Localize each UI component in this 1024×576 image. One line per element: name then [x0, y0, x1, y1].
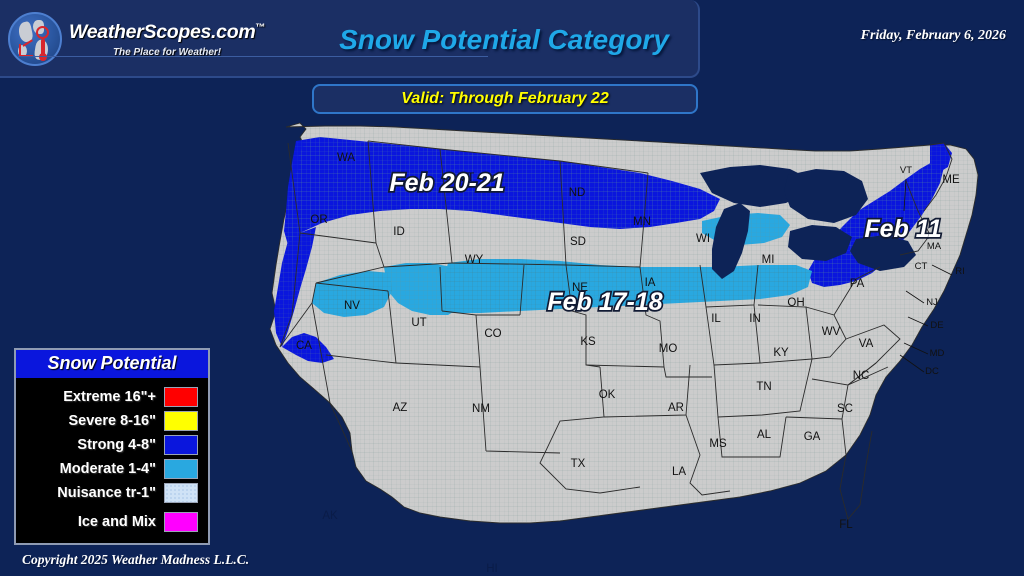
legend-item-label: Extreme 16"+ [63, 389, 156, 405]
map-annotation: Feb 17-18 [547, 288, 662, 316]
legend-item: Severe 8-16" [24, 409, 198, 432]
state-label-dc: DC [925, 366, 939, 377]
globe-icon [8, 12, 62, 66]
legend-item-label: Severe 8-16" [69, 413, 157, 429]
header-date: Friday, February 6, 2026 [861, 28, 1006, 44]
state-label-me: ME [942, 174, 960, 186]
legend-rows: Extreme 16"+Severe 8-16"Strong 4-8"Moder… [16, 378, 208, 533]
state-label-tn: TN [756, 381, 771, 393]
state-label-ok: OK [599, 389, 616, 401]
state-label-ct: CT [915, 261, 928, 272]
state-label-mo: MO [659, 343, 678, 355]
state-label-vt: VT [900, 165, 912, 176]
map-annotation: Feb 20-21 [389, 169, 504, 197]
valid-through-banner: Valid: Through February 22 [312, 84, 698, 114]
site-logo[interactable]: WeatherScopes.com™ The Place for Weather… [8, 7, 308, 71]
state-label-or: OR [310, 214, 327, 226]
state-label-ms: MS [709, 438, 727, 450]
legend-item: Strong 4-8" [24, 433, 198, 456]
header-panel: WeatherScopes.com™ The Place for Weather… [0, 0, 700, 78]
legend-color-swatch [164, 483, 198, 503]
state-label-de: DE [930, 320, 943, 331]
legend-item: Ice and Mix [24, 510, 198, 533]
legend-item-label: Moderate 1-4" [60, 461, 156, 477]
state-label-co: CO [484, 328, 501, 340]
weather-map-page: WeatherScopes.com™ The Place for Weather… [0, 0, 1024, 576]
state-label-wi: WI [696, 233, 710, 245]
legend-color-swatch [164, 387, 198, 407]
header-divider [18, 56, 488, 57]
legend-item: Extreme 16"+ [24, 385, 198, 408]
legend-color-swatch [164, 411, 198, 431]
state-label-va: VA [859, 338, 874, 350]
state-label-fl: FL [839, 519, 853, 531]
state-label-in: IN [749, 313, 761, 325]
state-label-az: AZ [393, 402, 408, 414]
state-label-ut: UT [411, 317, 426, 329]
state-label-wa: WA [337, 152, 355, 164]
state-label-sc: SC [837, 403, 853, 415]
gauge-icon [36, 26, 49, 39]
valid-through-text: Valid: Through February 22 [401, 90, 608, 108]
state-label-ga: GA [804, 431, 821, 443]
state-label-la: LA [672, 466, 686, 478]
state-label-ar: AR [668, 402, 684, 414]
thermometer-icon [41, 39, 45, 57]
state-label-ky: KY [773, 347, 789, 359]
state-label-wv: WV [822, 326, 841, 338]
copyright-text: Copyright 2025 Weather Madness L.L.C. [22, 552, 249, 568]
page-title: Snow Potential Category [315, 24, 693, 56]
state-label-sd: SD [570, 236, 586, 248]
state-label-nc: NC [853, 370, 870, 382]
state-label-md: MD [930, 348, 945, 359]
state-label-al: AL [757, 429, 772, 441]
state-label-nm: NM [472, 403, 490, 415]
state-label-nj: NJ [926, 297, 938, 308]
legend-color-swatch [164, 459, 198, 479]
state-label-pa: PA [850, 278, 865, 290]
logo-name-text: WeatherScopes.com [69, 21, 255, 43]
state-label-ri: RI [955, 266, 965, 277]
legend-panel: Snow Potential Extreme 16"+Severe 8-16"S… [14, 348, 210, 545]
state-label-ks: KS [580, 336, 596, 348]
legend-item: Moderate 1-4" [24, 457, 198, 480]
trademark-symbol: ™ [255, 22, 265, 33]
state-label-nv: NV [344, 300, 360, 312]
state-label-mn: MN [633, 216, 651, 228]
state-label-id: ID [393, 226, 405, 238]
state-label-wy: WY [465, 254, 484, 266]
state-label-ca: CA [296, 340, 312, 352]
legend-color-swatch [164, 512, 198, 532]
state-label-il: IL [711, 313, 721, 325]
state-label-nd: ND [569, 187, 586, 199]
legend-item-label: Nuisance tr-1" [57, 485, 156, 501]
legend-item-label: Ice and Mix [78, 514, 156, 530]
state-label-hi: HI [486, 563, 498, 575]
state-label-mi: MI [762, 254, 775, 266]
state-label-tx: TX [571, 458, 586, 470]
state-label-ak: AK [322, 510, 338, 522]
logo-wordmark: WeatherScopes.com™ [69, 21, 265, 44]
map-annotation: Feb 11 [864, 215, 941, 243]
legend-item-label: Strong 4-8" [77, 437, 156, 453]
legend-title: Snow Potential [16, 350, 208, 378]
legend-item: Nuisance tr-1" [24, 481, 198, 504]
state-label-oh: OH [787, 297, 804, 309]
legend-color-swatch [164, 435, 198, 455]
